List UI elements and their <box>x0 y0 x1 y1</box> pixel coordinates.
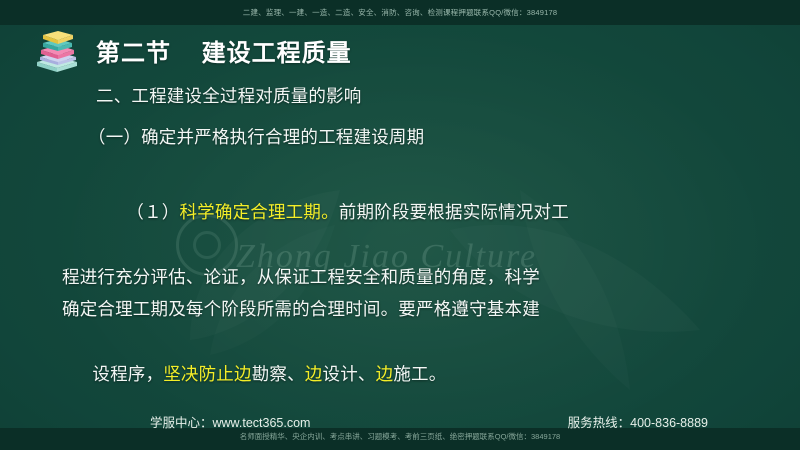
p1-l4-highlight-3: 边 <box>376 364 394 384</box>
page-title: 第二节 建设工程质量 <box>96 33 352 68</box>
p1-l4-d: 施工。 <box>393 364 446 384</box>
p1-l4-b: 勘察、 <box>252 364 305 384</box>
p1-l4-highlight-2: 边 <box>305 364 323 384</box>
p1-l1-prefix: （１） <box>126 202 179 222</box>
p1-l4-a: 设程序， <box>92 364 163 384</box>
stacked-books-icon <box>34 28 80 72</box>
p1-l1-highlight: 科学确定合理工期。 <box>179 202 338 222</box>
footer-service-center: 学服中心：www.tect365.com <box>150 412 310 431</box>
footer: 学服中心：www.tect365.com 服务热线：400-836-8889 <box>0 412 800 434</box>
body-heading: 二、工程建设全过程对质量的影响 <box>0 80 800 113</box>
slide-body: 二、工程建设全过程对质量的影响 （一）确定并严格执行合理的工程建设周期 （１）科… <box>0 80 800 450</box>
footer-hotline: 服务热线：400-836-8889 <box>568 412 708 431</box>
p1-l1-rest: 前期阶段要根据实际情况对工 <box>339 202 569 222</box>
paragraph-1-line-3: 确定合理工期及每个阶段所需的合理时间。要严格遵守基本建 <box>0 293 800 326</box>
slide-header: 第二节 建设工程质量 <box>34 28 352 72</box>
paragraph-1-line-4: 设程序，坚决防止边勘察、边设计、边施工。 <box>0 326 800 424</box>
top-banner: 二建、监理、一建、一造、二造、安全、消防、咨询、检测课程押题联系QQ/微信：38… <box>0 0 800 25</box>
paragraph-1-line-1: （１）科学确定合理工期。前期阶段要根据实际情况对工 <box>0 153 800 261</box>
p1-l4-c: 设计、 <box>323 364 376 384</box>
body-subheading: （一）确定并严格执行合理的工程建设周期 <box>0 113 800 154</box>
p1-l4-highlight-1: 坚决防止边 <box>163 364 252 384</box>
paragraph-1-line-2: 程进行充分评估、论证，从保证工程安全和质量的角度，科学 <box>0 261 800 294</box>
slide-canvas: Zhong Jiao Culture 二建、监理、一建、一造、二造、安全、消防、… <box>0 0 800 450</box>
top-banner-text: 二建、监理、一建、一造、二造、安全、消防、咨询、检测课程押题联系QQ/微信：38… <box>0 0 800 25</box>
